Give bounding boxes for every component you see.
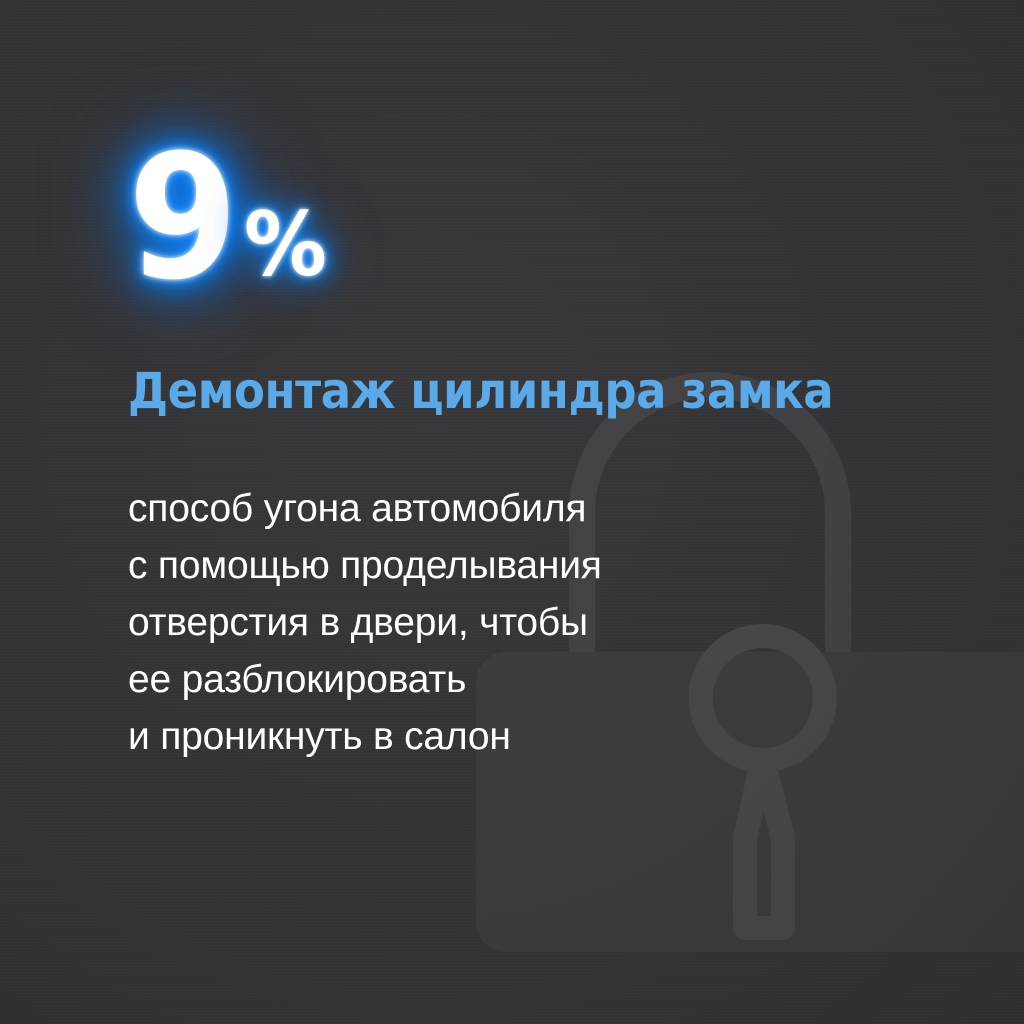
description-line: и проникнуть в салон: [128, 708, 828, 765]
description-text: способ угона автомобиля с помощью продел…: [128, 480, 828, 765]
page-title: Демонтаж цилиндра замка: [128, 366, 833, 416]
statistic-unit: %: [244, 201, 327, 289]
statistic-value: 9: [128, 142, 233, 293]
description-line: ее разблокировать: [128, 651, 828, 708]
infographic-slide: 9 % Демонтаж цилиндра замка способ угона…: [0, 0, 1024, 1024]
description-line: способ угона автомобиля: [128, 480, 828, 537]
description-line: отверстия в двери, чтобы: [128, 594, 828, 651]
description-line: с помощью проделывания: [128, 537, 828, 594]
statistic-block: 9 %: [128, 142, 332, 293]
